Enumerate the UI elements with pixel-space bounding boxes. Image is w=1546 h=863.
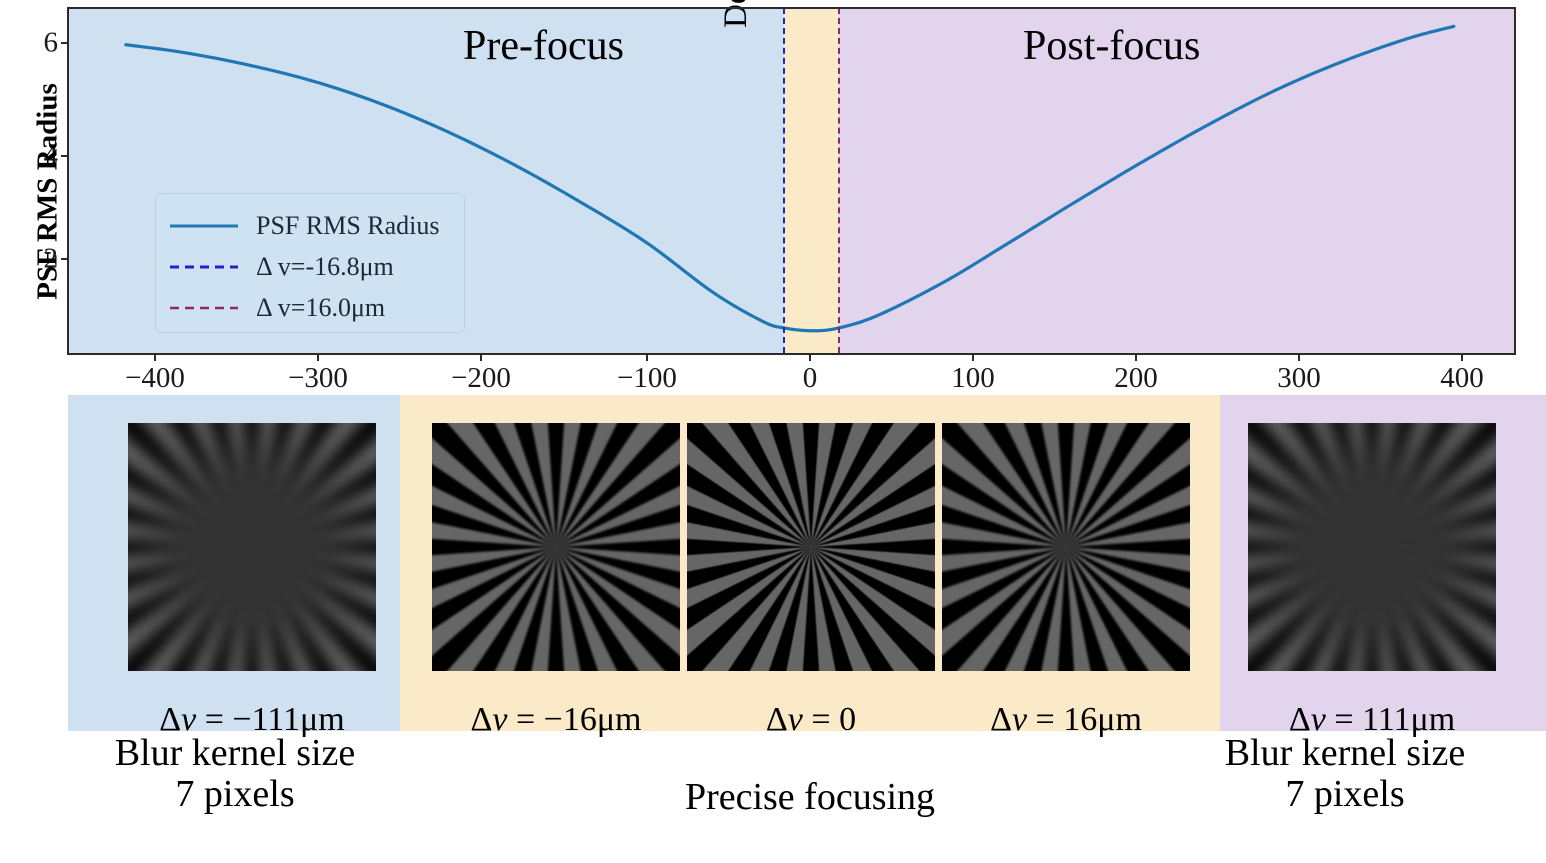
- x-tick-label: 400: [1440, 362, 1484, 395]
- legend-item-delta-v-left: Δ v=-16.8μm: [168, 246, 452, 287]
- x-tick-mark: [1461, 355, 1463, 361]
- siemens-star-image: [687, 423, 935, 671]
- legend-label-delta-v-right: Δ v=16.0μm: [244, 293, 385, 323]
- chart-legend: PSF RMS Radius Δ v=-16.8μm Δ v=16.0μm: [155, 193, 465, 333]
- thumbnail-item: Δv = 0: [687, 423, 935, 671]
- caption-left-line2: 7 pixels: [55, 774, 415, 815]
- psf-rms-radius-chart: Pre-focus Post-focus PSF RMS Radius Δ v=…: [0, 0, 1546, 395]
- legend-label-psf-rms-radius: PSF RMS Radius: [244, 211, 440, 241]
- region-label-pre-focus: Pre-focus: [463, 22, 624, 70]
- legend-key-solid-line: [168, 221, 244, 231]
- x-tick-label: 0: [803, 362, 818, 395]
- x-tick-mark: [972, 355, 974, 361]
- caption-left-line1: Blur kernel size: [55, 733, 415, 774]
- thumbnail-item: Δv = 16μm: [942, 423, 1190, 671]
- y-tick-label: 6: [44, 27, 59, 60]
- axis-spine-top: [67, 7, 1516, 9]
- x-tick-mark: [646, 355, 648, 361]
- x-tick-mark: [480, 355, 482, 361]
- y-axis-label: PSF RMS Radius: [32, 62, 65, 322]
- plot-area: Pre-focus Post-focus PSF RMS Radius Δ v=…: [68, 8, 1515, 353]
- siemens-star-image: [1248, 423, 1496, 671]
- vline-delta-v-right: [838, 8, 840, 353]
- siemens-star-image: [942, 423, 1190, 671]
- axis-spine-left: [67, 8, 69, 355]
- x-tick-label: −300: [288, 362, 348, 395]
- defocus-thumbnail-strip: Δv = −111μm Δv = −16μm Δv = 0 Δv = 16μm …: [0, 395, 1546, 735]
- x-tick-mark: [317, 355, 319, 361]
- caption-right: Blur kernel size 7 pixels: [1160, 733, 1530, 815]
- caption-left: Blur kernel size 7 pixels: [55, 733, 415, 815]
- x-tick-mark: [1135, 355, 1137, 361]
- siemens-star-image: [128, 423, 376, 671]
- axis-spine-right: [1514, 8, 1516, 355]
- x-tick-label: −100: [617, 362, 677, 395]
- x-tick-label: 200: [1114, 362, 1158, 395]
- legend-key-dashed-blue-line: [168, 262, 244, 272]
- vline-delta-v-left: [783, 8, 785, 353]
- x-tick-mark: [1298, 355, 1300, 361]
- thumbnail-item: Δv = −111μm: [128, 423, 376, 671]
- x-tick-label: −400: [125, 362, 185, 395]
- siemens-star-image: [432, 423, 680, 671]
- y-tick-mark: [61, 42, 67, 44]
- legend-label-delta-v-left: Δ v=-16.8μm: [244, 252, 394, 282]
- x-tick-mark: [809, 355, 811, 361]
- legend-item-psf-rms-radius: PSF RMS Radius: [168, 205, 452, 246]
- region-label-post-focus: Post-focus: [1023, 22, 1200, 70]
- caption-right-line1: Blur kernel size: [1160, 733, 1530, 774]
- legend-item-delta-v-right: Δ v=16.0μm: [168, 287, 452, 328]
- caption-right-line2: 7 pixels: [1160, 774, 1530, 815]
- x-tick-label: −200: [451, 362, 511, 395]
- x-tick-label: 300: [1277, 362, 1321, 395]
- x-tick-label: 100: [951, 362, 995, 395]
- caption-row: Blur kernel size 7 pixels Precise focusi…: [0, 731, 1546, 863]
- legend-key-dashed-purple-line: [168, 303, 244, 313]
- thumbnail-item: Δv = −16μm: [432, 423, 680, 671]
- region-label-depth-of-focus: Depth of focus: [718, 0, 755, 28]
- thumbnail-item: Δv = 111μm: [1248, 423, 1496, 671]
- x-tick-mark: [154, 355, 156, 361]
- caption-middle: Precise focusing: [470, 777, 1150, 818]
